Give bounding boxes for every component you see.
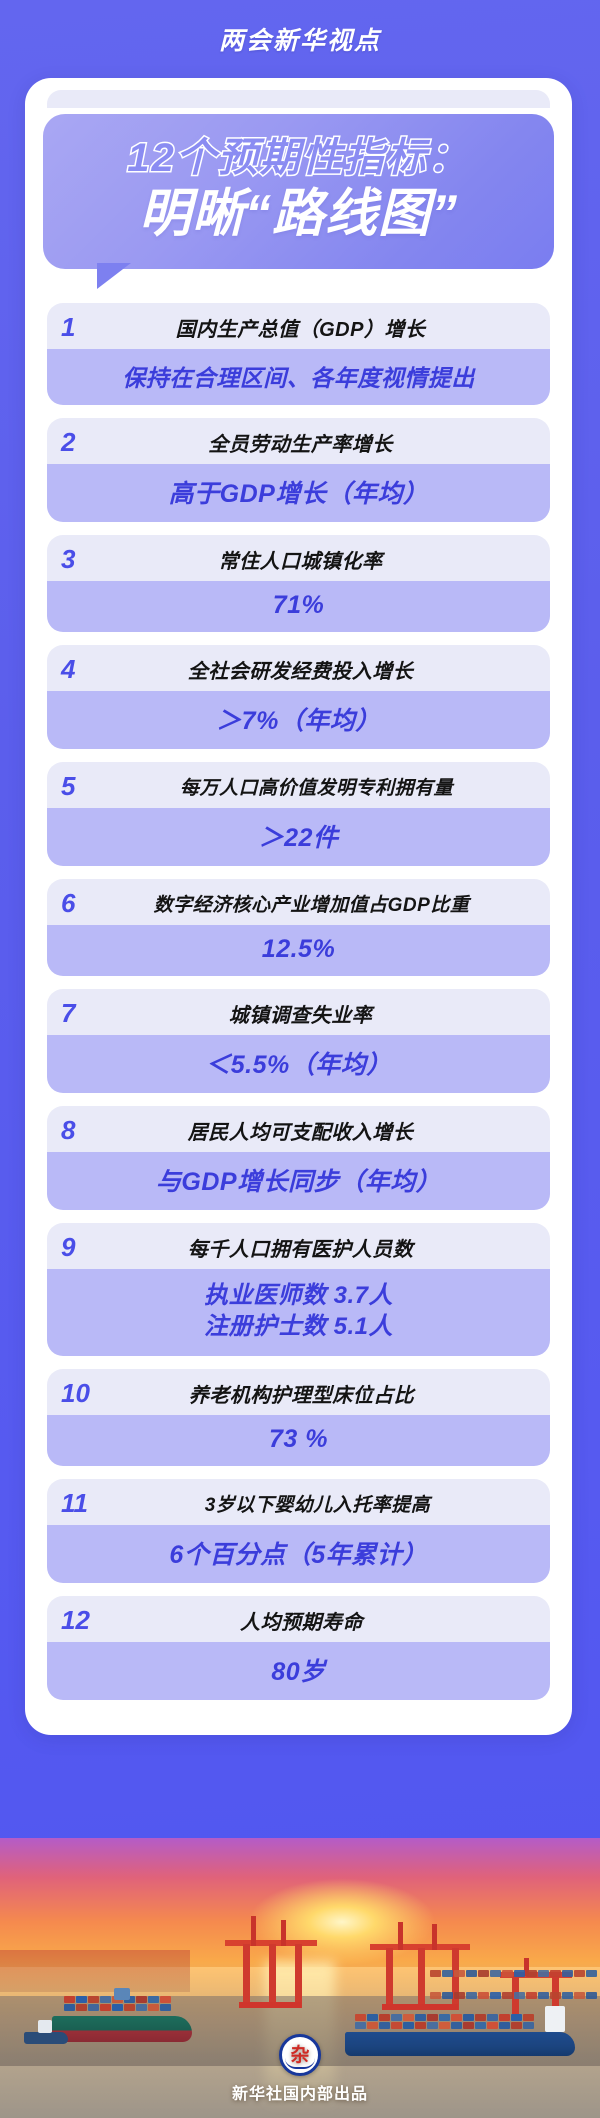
item-title: 3岁以下婴幼儿入托率提高 [107, 1490, 536, 1517]
list-item: 10 养老机构护理型床位占比 73 % [47, 1369, 550, 1466]
item-header: 4 全社会研发经费投入增长 [47, 645, 550, 691]
item-title: 城镇调查失业率 [105, 999, 536, 1028]
item-number: 12 [61, 1607, 107, 1633]
item-title: 常住人口城镇化率 [105, 545, 536, 574]
page-title: 两会新华视点 [219, 21, 381, 57]
item-value: ＜5.5%（年均） [47, 1035, 550, 1093]
item-title: 养老机构护理型床位占比 [107, 1379, 536, 1408]
item-title: 国内生产总值（GDP）增长 [105, 313, 536, 342]
item-title: 全社会研发经费投入增长 [105, 655, 536, 684]
item-number: 4 [61, 656, 105, 682]
list-item: 7 城镇调查失业率 ＜5.5%（年均） [47, 989, 550, 1093]
item-value: 12.5% [47, 925, 550, 976]
item-number: 5 [61, 773, 105, 799]
item-title: 数字经济核心产业增加值占GDP比重 [87, 890, 536, 917]
item-number: 11 [61, 1490, 107, 1516]
title-bubble: 12个预期性指标： 明晰“路线图” [43, 114, 554, 269]
item-header: 2 全员劳动生产率增长 [47, 418, 550, 464]
list-item: 11 3岁以下婴幼儿入托率提高 6个百分点（5年累计） [47, 1479, 550, 1583]
item-title: 全员劳动生产率增长 [105, 428, 536, 457]
item-value: 高于GDP增长（年均） [47, 464, 550, 522]
gantry-crane-left [225, 1916, 315, 2008]
item-header: 6 数字经济核心产业增加值占GDP比重 [47, 879, 550, 925]
item-number: 7 [61, 1000, 105, 1026]
list-item: 8 居民人均可支配收入增长 与GDP增长同步（年均） [47, 1106, 550, 1210]
item-value: ＞7%（年均） [47, 691, 550, 749]
decorative-peek-strip [47, 90, 550, 108]
item-value: 6个百分点（5年累计） [47, 1525, 550, 1583]
item-number: 6 [61, 890, 87, 916]
container-yard [430, 1970, 600, 2012]
item-title: 每千人口拥有医护人员数 [105, 1233, 536, 1262]
list-item: 12 人均预期寿命 80岁 [47, 1596, 550, 1700]
list-item: 3 常住人口城镇化率 71% [47, 535, 550, 632]
item-header: 5 每万人口高价值发明专利拥有量 [47, 762, 550, 808]
distant-port-skyline [0, 1950, 190, 1992]
item-header: 10 养老机构护理型床位占比 [47, 1369, 550, 1415]
xinhua-logo-icon: 杂 [279, 2034, 321, 2076]
list-item: 4 全社会研发经费投入增长 ＞7%（年均） [47, 645, 550, 749]
brand-footer: 杂 新华社国内部出品 [0, 2034, 600, 2104]
item-header: 7 城镇调查失业率 [47, 989, 550, 1035]
indicator-list: 1 国内生产总值（GDP）增长 保持在合理区间、各年度视情提出 2 全员劳动生产… [47, 303, 550, 1700]
list-item: 6 数字经济核心产业增加值占GDP比重 12.5% [47, 879, 550, 976]
item-title: 人均预期寿命 [107, 1606, 536, 1635]
item-number: 2 [61, 429, 105, 455]
item-header: 12 人均预期寿命 [47, 1596, 550, 1642]
infographic-page: 两会新华视点 12个预期性指标： 明晰“路线图” 1 国内生产总值（GDP）增长… [0, 0, 600, 2118]
item-header: 3 常住人口城镇化率 [47, 535, 550, 581]
item-number: 3 [61, 546, 105, 572]
list-item: 5 每万人口高价值发明专利拥有量 ＞22件 [47, 762, 550, 866]
title-bubble-container: 12个预期性指标： 明晰“路线图” [43, 114, 554, 269]
item-header: 1 国内生产总值（GDP）增长 [47, 303, 550, 349]
item-title: 每万人口高价值发明专利拥有量 [105, 773, 536, 800]
title-line-1: 12个预期性指标： [53, 136, 544, 181]
item-value: 71% [47, 581, 550, 632]
item-title: 居民人均可支配收入增长 [105, 1116, 536, 1145]
item-header: 11 3岁以下婴幼儿入托率提高 [47, 1479, 550, 1525]
item-value: 与GDP增长同步（年均） [47, 1152, 550, 1210]
title-line-2: 明晰“路线图” [53, 185, 544, 243]
item-header: 9 每千人口拥有医护人员数 [47, 1223, 550, 1269]
item-value: ＞22件 [47, 808, 550, 866]
top-header: 两会新华视点 [0, 0, 600, 78]
item-number: 8 [61, 1117, 105, 1143]
item-value: 执业医师数 3.7人 注册护士数 5.1人 [47, 1269, 550, 1356]
brand-text: 新华社国内部出品 [232, 2080, 368, 2104]
item-value: 80岁 [47, 1642, 550, 1700]
item-value-line-2: 注册护士数 5.1人 [55, 1312, 542, 1343]
item-number: 1 [61, 314, 105, 340]
speech-bubble-tail [97, 263, 131, 289]
content-card: 12个预期性指标： 明晰“路线图” 1 国内生产总值（GDP）增长 保持在合理区… [25, 78, 572, 1735]
list-item: 2 全员劳动生产率增长 高于GDP增长（年均） [47, 418, 550, 522]
item-value-line-1: 执业医师数 3.7人 [55, 1281, 542, 1312]
item-number: 9 [61, 1234, 105, 1260]
list-item: 9 每千人口拥有医护人员数 执业医师数 3.7人 注册护士数 5.1人 [47, 1223, 550, 1356]
footer-photo: 杂 新华社国内部出品 [0, 1838, 600, 2118]
xinhua-logo-ring [285, 2058, 315, 2069]
item-number: 10 [61, 1380, 107, 1406]
item-header: 8 居民人均可支配收入增长 [47, 1106, 550, 1152]
list-item: 1 国内生产总值（GDP）增长 保持在合理区间、各年度视情提出 [47, 303, 550, 405]
item-value: 73 % [47, 1415, 550, 1466]
item-value: 保持在合理区间、各年度视情提出 [47, 349, 550, 405]
